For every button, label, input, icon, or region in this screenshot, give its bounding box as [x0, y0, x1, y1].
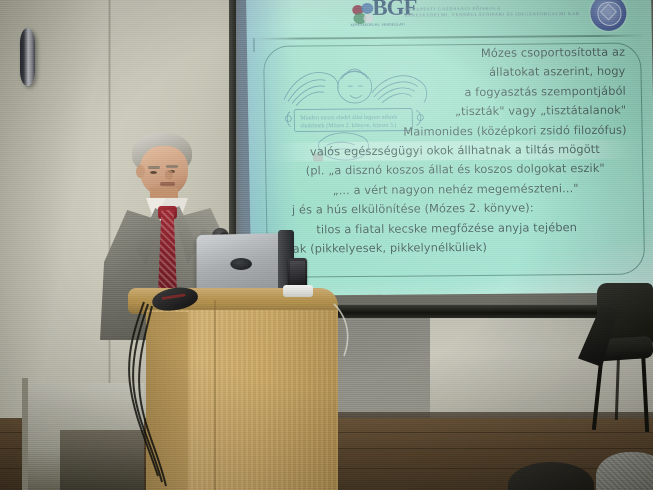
door-frame: [22, 378, 28, 490]
institution-subtitle: BUDAPESTI GAZDASÁGI FŐISKOLA KERESKEDELM…: [404, 5, 580, 19]
slide-line-11: ak (pikkelyesek, pikkelynélküliek): [271, 237, 643, 260]
bgf-logo-bottom-text: KERESKEDELMI, VENDÉGLÁTÓIPARI ÉS IDEGENF…: [351, 23, 405, 28]
projector-cable: [330, 300, 370, 370]
cable-bundle: [100, 300, 180, 490]
presenter-mouth: [160, 182, 175, 186]
projected-slide: BUDAPESTI GAZDASÁGI FŐISKOLA BGF KERESKE…: [246, 0, 653, 296]
institution-subtitle-line2: KERESKEDELMI, VENDÉGLÁTÓIPARI ÉS IDEGENF…: [404, 11, 580, 19]
wall-light-fixture-icon: [20, 28, 35, 86]
slide-body-text: Mózes csoportosította az állatokat aszer…: [267, 43, 643, 260]
bgf-logo: BUDAPESTI GAZDASÁGI FŐISKOLA BGF KERESKE…: [350, 0, 401, 29]
dell-logo-icon: [230, 258, 252, 270]
presenter-ear: [136, 165, 145, 178]
presenter-nose: [165, 170, 173, 180]
slide-header-rule: [253, 35, 645, 40]
faculty-seal-icon: [590, 0, 627, 31]
lectern-corner-edge: [214, 300, 216, 490]
phone-dock: [283, 285, 313, 297]
presentation-photo: BUDAPESTI GAZDASÁGI FŐISKOLA BGF KERESKE…: [0, 0, 653, 490]
slide-line-7: (pl. „a disznó koszos állat és koszos do…: [269, 159, 641, 182]
